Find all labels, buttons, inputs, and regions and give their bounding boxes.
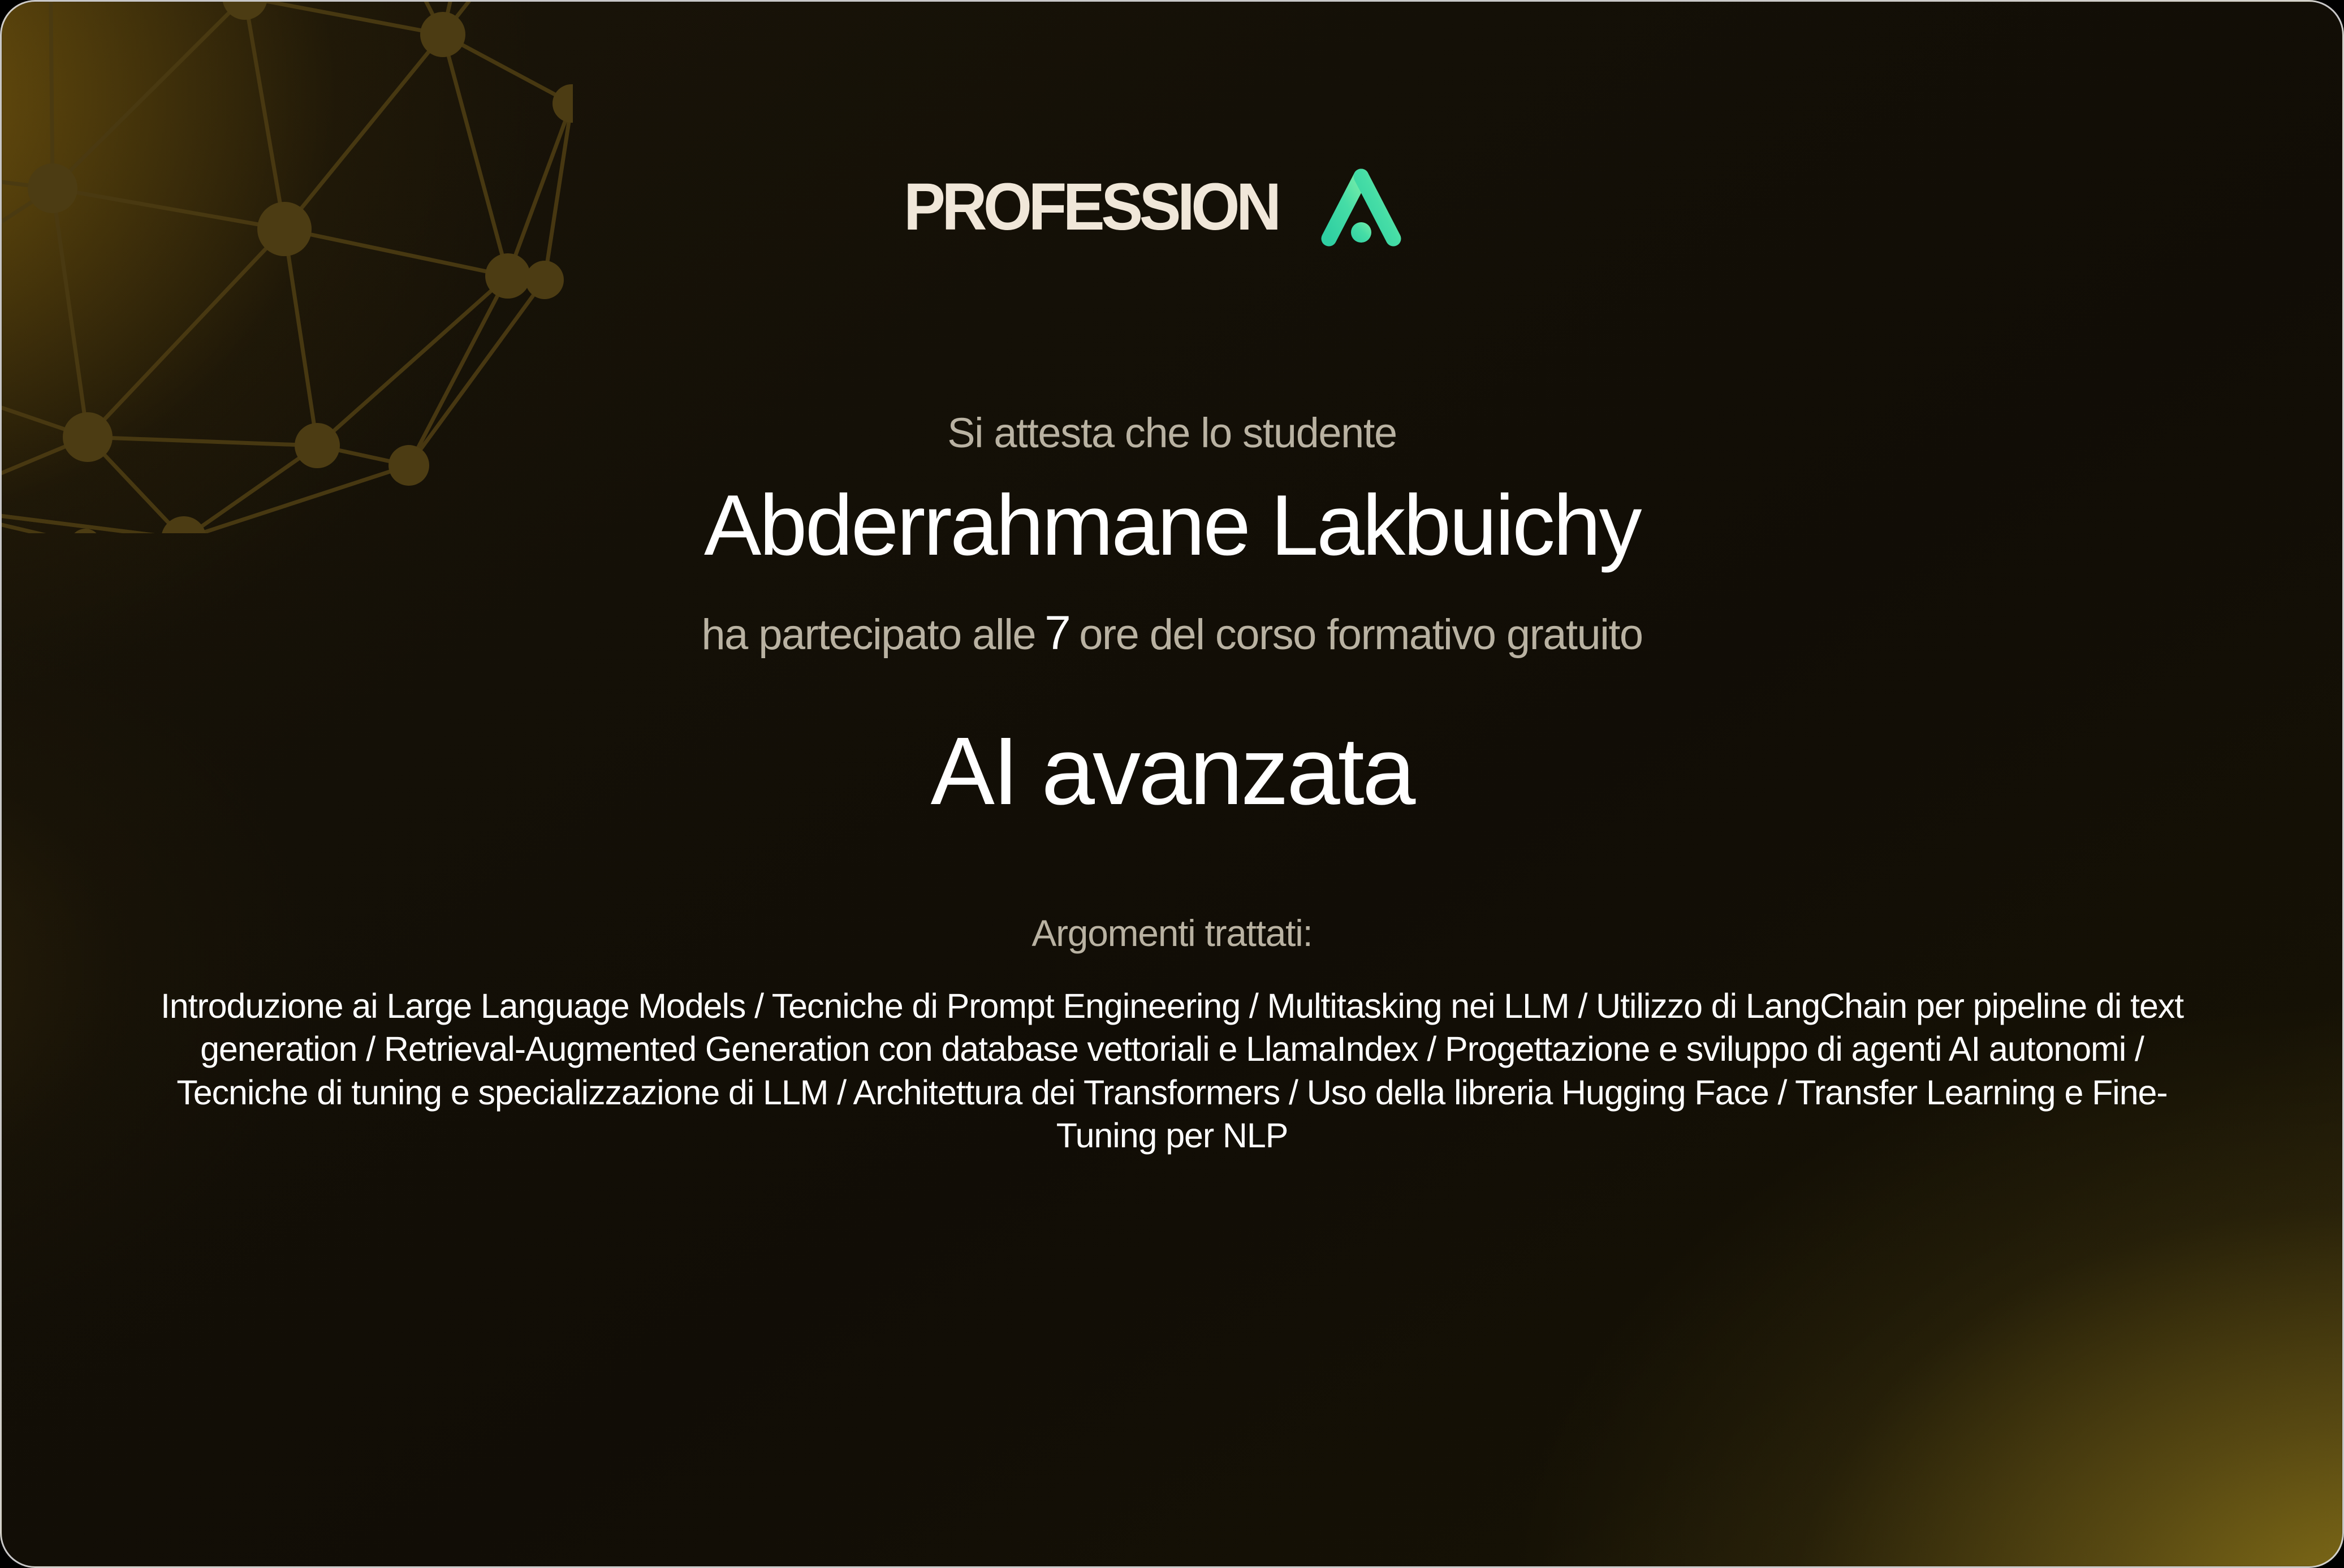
hours-suffix: ore del corso formativo gratuito: [1079, 611, 1642, 659]
student-name: Abderrahmane Lakbuichy: [704, 479, 1640, 572]
topics-label: Argomenti trattati:: [1031, 914, 1312, 952]
hours-value: 7: [1035, 606, 1079, 659]
certificate-content: PROFESSION Si attesta che lo stu: [2, 2, 2342, 1566]
course-title: AI avanzata: [931, 723, 1414, 819]
ai-mark-icon: [1319, 167, 1440, 247]
certificate-card: PROFESSION Si attesta che lo stu: [0, 0, 2344, 1568]
attests-label: Si attesta che lo studente: [947, 412, 1397, 454]
topics-text: Introduzione ai Large Language Models / …: [154, 984, 2190, 1157]
hours-line: ha partecipato alle7ore del corso format…: [701, 609, 1642, 656]
hours-prefix: ha partecipato alle: [701, 611, 1035, 659]
logo-wordmark: PROFESSION: [904, 174, 1277, 240]
brand-logo: PROFESSION: [904, 165, 1440, 249]
